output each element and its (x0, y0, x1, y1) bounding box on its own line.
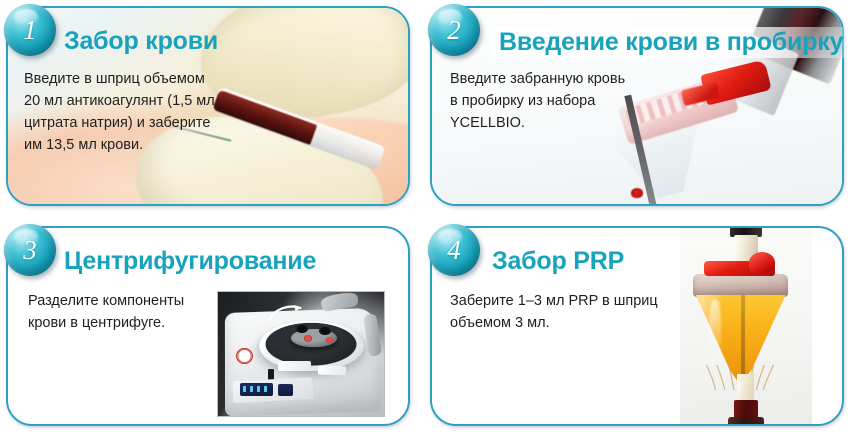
step-badge-4: 4 (428, 224, 480, 276)
warning-sticker-shape (236, 348, 253, 364)
step-body-1: Введите в шприц объемом 20 мл антикоагул… (24, 68, 264, 156)
syringe-tip-blood-shape (706, 76, 737, 113)
red-valve-secondary-shape (681, 82, 721, 106)
centrifuge-display-secondary-shape (278, 384, 293, 396)
prp-plasma-layer-shape (696, 295, 786, 381)
centrifuge-photo (217, 291, 385, 417)
step-body-4: Заберите 1–3 мл PRP в шприц объемом 3 мл… (450, 290, 700, 334)
rotor-slot-shape (319, 327, 331, 334)
rotation-arrow-icon (264, 303, 307, 323)
prp-collar-shape (693, 274, 788, 298)
rotor-tube-shape (326, 337, 333, 343)
step-title-1: Забор крови (64, 27, 218, 56)
step-title-3: Центрифугирование (64, 247, 316, 276)
blood-drop-shape (631, 188, 643, 198)
step-number-3: 3 (23, 237, 37, 264)
red-valve-shape (700, 59, 771, 105)
step-badge-1: 1 (4, 4, 56, 56)
prp-red-cell-layer-shape (734, 400, 758, 419)
prp-top-cap-shape (730, 226, 762, 237)
centrifuge-label-shape (278, 361, 311, 371)
prp-funnel-line-shape (741, 295, 745, 381)
centrifuge-label-shape (317, 366, 346, 376)
step-title-4: Забор PRP (492, 247, 624, 276)
prp-red-wing-shape (704, 261, 775, 276)
step-body-2: Введите забранную кровь в пробирку из на… (450, 68, 665, 134)
prp-red-knob-shape (749, 252, 775, 273)
step-number-2: 2 (447, 17, 461, 44)
step-title-2: Введение крови в пробирку (492, 27, 850, 58)
centrifuge-display-shape (240, 383, 273, 397)
prp-bottom-cap-shape (728, 417, 765, 426)
prp-procedure-infographic: 1 Забор крови Введите в шприц объемом 20… (0, 0, 850, 438)
step-body-3: Разделите компоненты крови в центрифуге. (28, 290, 213, 334)
step-badge-3: 3 (4, 224, 56, 276)
step-number-4: 4 (447, 237, 461, 264)
rotor-slot-shape (296, 325, 308, 332)
prp-neck-shape (734, 235, 758, 267)
step-badge-2: 2 (428, 4, 480, 56)
prp-plasma-highlight-shape (709, 299, 721, 363)
prp-threads-shape (701, 361, 780, 395)
prp-lower-stem-shape (737, 374, 754, 408)
step-number-1: 1 (23, 17, 37, 44)
rotor-tube-shape (304, 335, 311, 341)
